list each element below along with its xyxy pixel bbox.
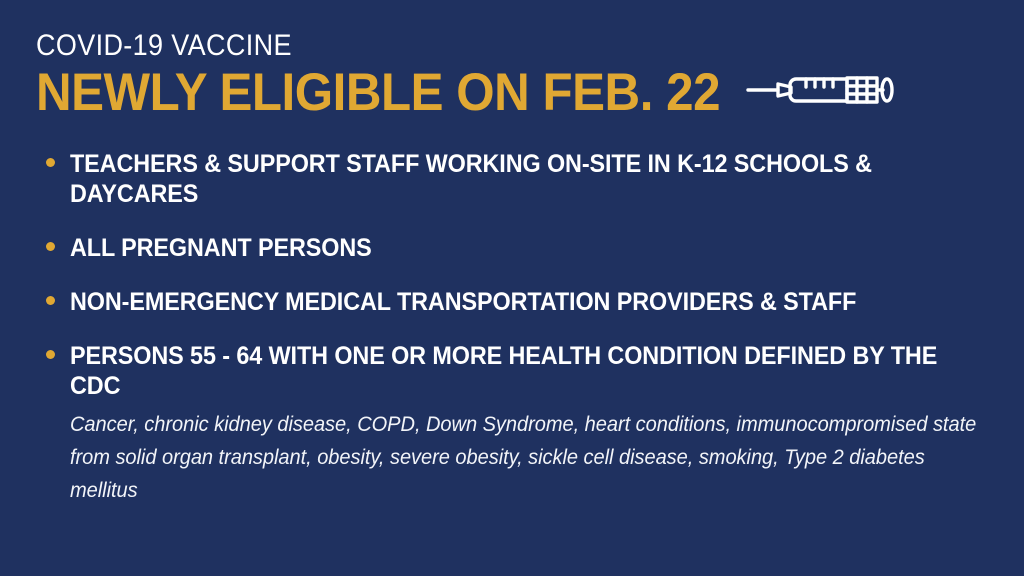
bullet-dot-icon: [46, 158, 55, 167]
slide-header: COVID-19 VACCINE NEWLY ELIGIBLE ON FEB. …: [36, 30, 988, 119]
page-title: NEWLY ELIGIBLE ON FEB. 22: [36, 66, 720, 119]
bullet-dot-icon: [46, 296, 55, 305]
syringe-icon: [744, 67, 894, 118]
list-item-label: NON-EMERGENCY MEDICAL TRANSPORTATION PRO…: [70, 287, 988, 317]
list-item-label: PERSONS 55 - 64 WITH ONE OR MORE HEALTH …: [70, 341, 988, 401]
list-item: TEACHERS & SUPPORT STAFF WORKING ON-SITE…: [44, 149, 988, 209]
list-item-label: ALL PREGNANT PERSONS: [70, 233, 988, 263]
list-item: PERSONS 55 - 64 WITH ONE OR MORE HEALTH …: [44, 341, 988, 508]
eyebrow-label: COVID-19 VACCINE: [36, 30, 893, 62]
vaccine-eligibility-slide: COVID-19 VACCINE NEWLY ELIGIBLE ON FEB. …: [0, 0, 1024, 576]
bullet-dot-icon: [46, 242, 55, 251]
list-item-detail: Cancer, chronic kidney disease, COPD, Do…: [70, 408, 982, 508]
list-item: NON-EMERGENCY MEDICAL TRANSPORTATION PRO…: [44, 287, 988, 317]
eligibility-list: TEACHERS & SUPPORT STAFF WORKING ON-SITE…: [36, 149, 988, 508]
list-item: ALL PREGNANT PERSONS: [44, 233, 988, 263]
bullet-dot-icon: [46, 350, 55, 359]
list-item-label: TEACHERS & SUPPORT STAFF WORKING ON-SITE…: [70, 149, 988, 209]
headline-row: NEWLY ELIGIBLE ON FEB. 22: [36, 66, 988, 119]
